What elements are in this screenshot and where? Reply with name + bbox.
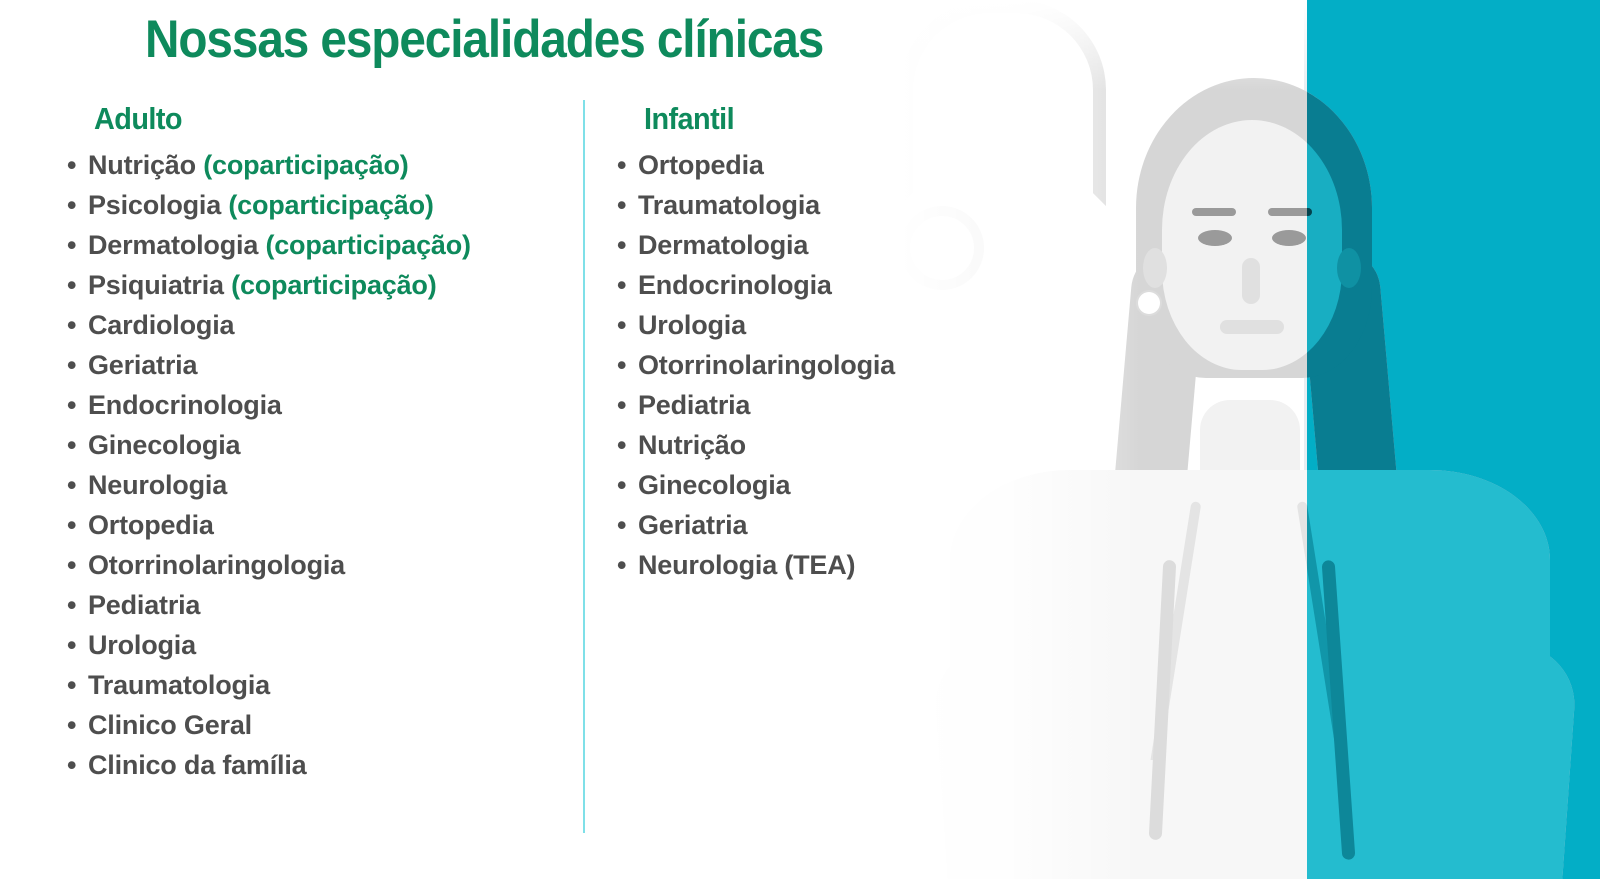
bullet-icon: • — [67, 665, 76, 705]
specialty-list-adulto: •Nutrição (coparticipação)•Psicologia (c… — [62, 145, 572, 785]
bullet-icon: • — [617, 425, 626, 465]
bullet-icon: • — [617, 545, 626, 585]
bullet-icon: • — [617, 225, 626, 265]
earring-icon — [1138, 292, 1160, 314]
specialty-name: Geriatria — [88, 350, 197, 380]
bullet-icon: • — [67, 185, 76, 225]
specialty-name: Ginecologia — [638, 470, 790, 500]
bullet-icon: • — [67, 265, 76, 305]
specialty-name: Otorrinolaringologia — [88, 550, 345, 580]
eye-right-shape — [1272, 230, 1306, 246]
column-adulto: Adulto •Nutrição (coparticipação)•Psicol… — [62, 100, 572, 785]
specialty-name: Cardiologia — [88, 310, 234, 340]
mouth-shape — [1220, 320, 1284, 334]
specialty-name: Dermatologia — [638, 230, 808, 260]
specialty-name: Clinico Geral — [88, 710, 252, 740]
bullet-icon: • — [67, 625, 76, 665]
bullet-icon: • — [617, 385, 626, 425]
coat-pocket-right-teal — [1300, 760, 1450, 870]
list-item: •Geriatria — [62, 345, 572, 385]
ear-right-shape-teal — [1337, 248, 1361, 288]
list-item: •Pediatria — [612, 385, 992, 425]
doctor-photo-area — [900, 0, 1600, 879]
specialty-list-infantil: •Ortopedia•Traumatologia•Dermatologia•En… — [612, 145, 992, 585]
bullet-icon: • — [617, 185, 626, 225]
column-infantil: Infantil •Ortopedia•Traumatologia•Dermat… — [612, 100, 992, 585]
specialty-name: Ortopedia — [88, 510, 214, 540]
list-item: •Ginecologia — [62, 425, 572, 465]
specialty-name: Dermatologia — [88, 230, 258, 260]
coat-pocket-left — [1050, 760, 1200, 870]
bullet-icon: • — [67, 345, 76, 385]
bullet-icon: • — [617, 145, 626, 185]
column-heading-adulto: Adulto — [94, 100, 539, 139]
bullet-icon: • — [67, 545, 76, 585]
list-item: •Otorrinolaringologia — [62, 545, 572, 585]
bullet-icon: • — [67, 465, 76, 505]
list-item: •Geriatria — [612, 505, 992, 545]
specialty-name: Endocrinologia — [638, 270, 832, 300]
list-item: •Dermatologia (coparticipação) — [62, 225, 572, 265]
specialty-note: (coparticipação) — [221, 190, 434, 220]
list-item: •Traumatologia — [62, 665, 572, 705]
specialty-name: Pediatria — [88, 590, 200, 620]
bullet-icon: • — [617, 265, 626, 305]
specialty-name: Urologia — [88, 630, 196, 660]
bullet-icon: • — [67, 505, 76, 545]
specialties-columns: Adulto •Nutrição (coparticipação)•Psicol… — [0, 100, 1000, 860]
specialty-name: Otorrinolaringologia — [638, 350, 895, 380]
page-title: Nossas especialidades clínicas — [145, 12, 823, 68]
specialty-name: Endocrinologia — [88, 390, 282, 420]
list-item: •Ginecologia — [612, 465, 992, 505]
list-item: •Ortopedia — [62, 505, 572, 545]
specialty-name: Clinico da família — [88, 750, 306, 780]
bullet-icon: • — [67, 705, 76, 745]
list-item: •Psicologia (coparticipação) — [62, 185, 572, 225]
specialty-name: Urologia — [638, 310, 746, 340]
list-item: •Clinico da família — [62, 745, 572, 785]
specialty-name: Neurologia — [88, 470, 227, 500]
specialty-name: Psicologia — [88, 190, 221, 220]
list-item: •Pediatria — [62, 585, 572, 625]
list-item: •Neurologia (TEA) — [612, 545, 992, 585]
bullet-icon: • — [617, 505, 626, 545]
list-item: •Urologia — [612, 305, 992, 345]
bullet-icon: • — [617, 305, 626, 345]
specialty-note: (coparticipação) — [258, 230, 471, 260]
bullet-icon: • — [617, 465, 626, 505]
specialty-name: Neurologia (TEA) — [638, 550, 855, 580]
eyebrow-left-shape — [1192, 208, 1236, 216]
bullet-icon: • — [617, 345, 626, 385]
list-item: •Dermatologia — [612, 225, 992, 265]
list-item: •Endocrinologia — [62, 385, 572, 425]
bullet-icon: • — [67, 585, 76, 625]
ear-left-shape — [1143, 248, 1167, 288]
specialty-note: (coparticipação) — [196, 150, 409, 180]
list-item: •Cardiologia — [62, 305, 572, 345]
specialty-name: Nutrição — [638, 430, 746, 460]
list-item: •Clinico Geral — [62, 705, 572, 745]
bullet-icon: • — [67, 225, 76, 265]
specialty-name: Geriatria — [638, 510, 747, 540]
bullet-icon: • — [67, 145, 76, 185]
list-item: •Traumatologia — [612, 185, 992, 225]
specialty-note: (coparticipação) — [224, 270, 437, 300]
slide-root: Nossas especialidades clínicas Adulto •N… — [0, 0, 1600, 879]
specialty-name: Traumatologia — [88, 670, 270, 700]
list-item: •Neurologia — [62, 465, 572, 505]
specialty-name: Nutrição — [88, 150, 196, 180]
list-item: •Nutrição — [612, 425, 992, 465]
list-item: •Psiquiatria (coparticipação) — [62, 265, 572, 305]
specialty-name: Psiquiatria — [88, 270, 224, 300]
specialty-name: Traumatologia — [638, 190, 820, 220]
list-item: •Endocrinologia — [612, 265, 992, 305]
specialty-name: Ortopedia — [638, 150, 764, 180]
list-item: •Otorrinolaringologia — [612, 345, 992, 385]
nose-shape — [1242, 258, 1260, 304]
column-heading-infantil: Infantil — [644, 100, 968, 139]
specialty-name: Pediatria — [638, 390, 750, 420]
list-item: •Nutrição (coparticipação) — [62, 145, 572, 185]
bullet-icon: • — [67, 745, 76, 785]
bullet-icon: • — [67, 385, 76, 425]
bullet-icon: • — [67, 305, 76, 345]
eye-left-shape — [1198, 230, 1232, 246]
list-item: •Urologia — [62, 625, 572, 665]
eyebrow-right-shape — [1268, 208, 1312, 216]
list-item: •Ortopedia — [612, 145, 992, 185]
specialty-name: Ginecologia — [88, 430, 240, 460]
bullet-icon: • — [67, 425, 76, 465]
